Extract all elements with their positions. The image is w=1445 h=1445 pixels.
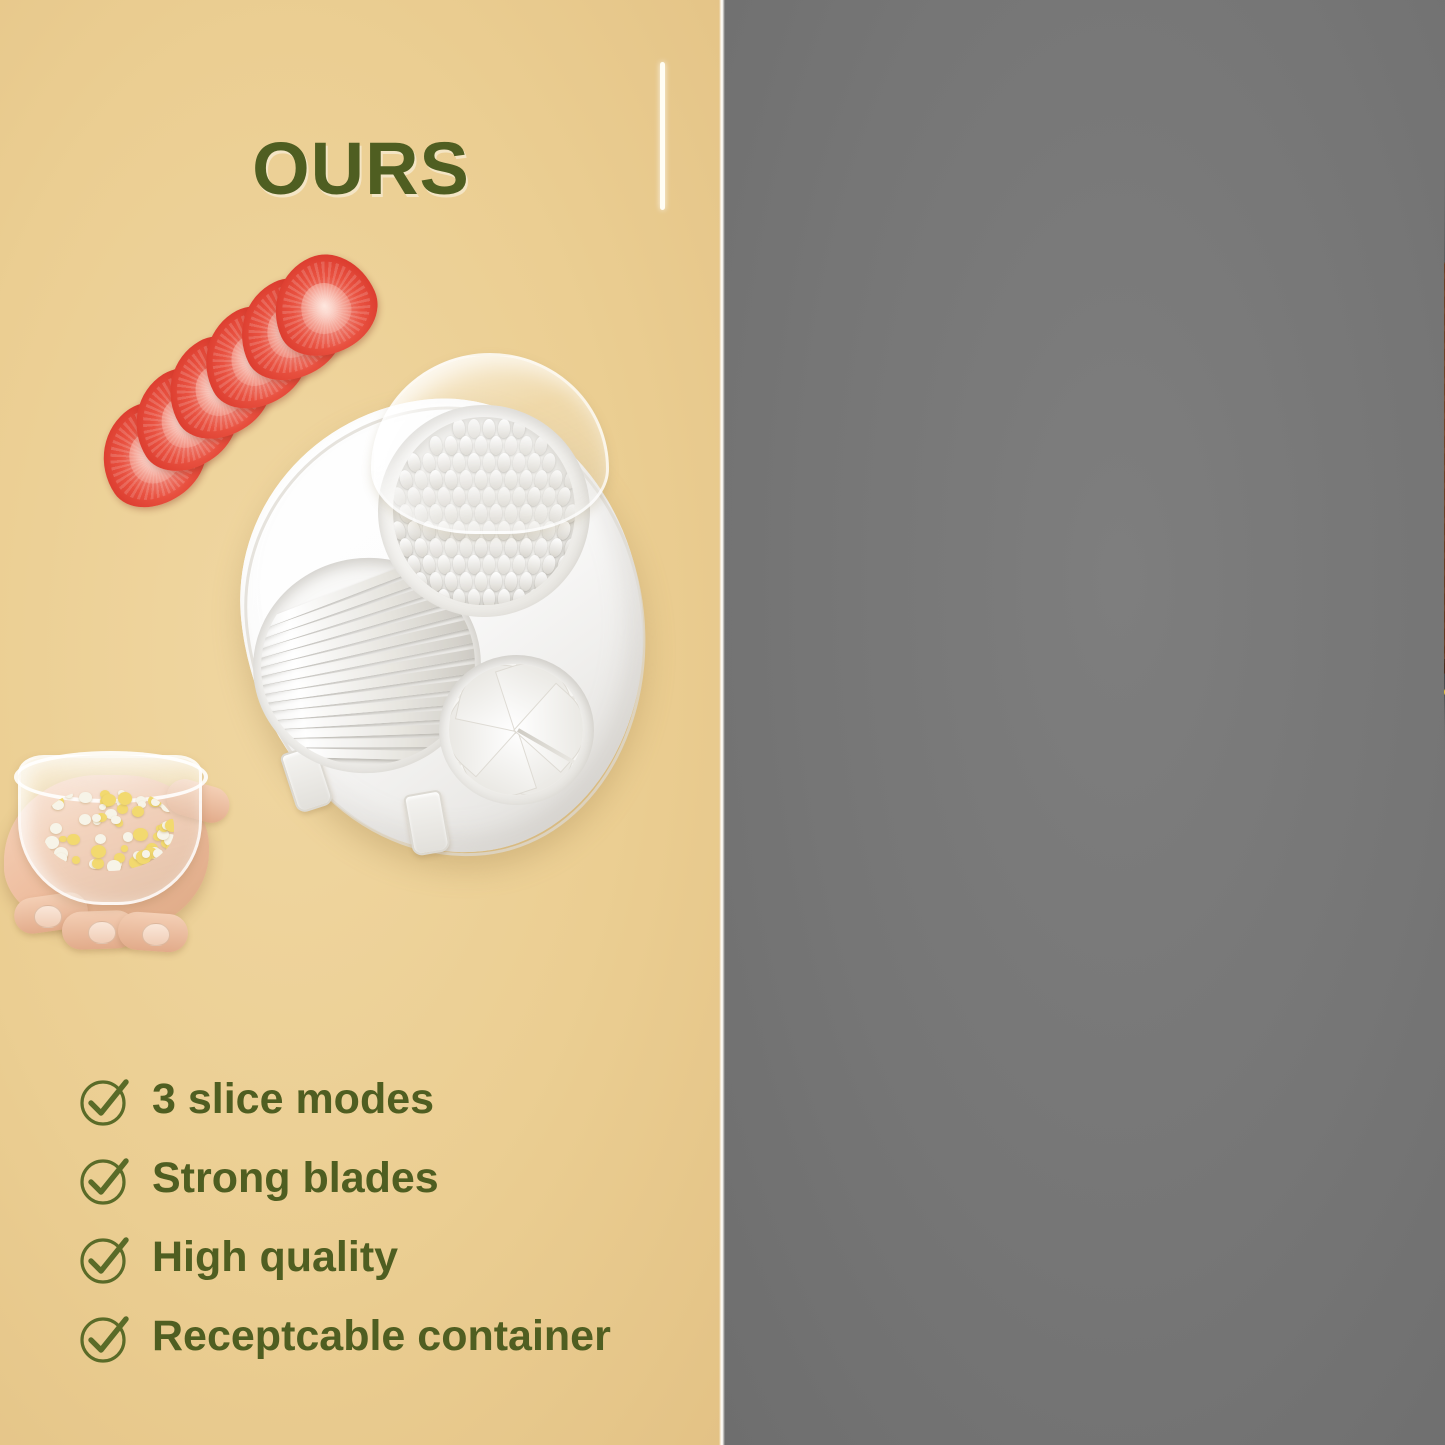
ours-accent-bar — [660, 62, 665, 210]
feature-label: Receptcable container — [152, 1315, 611, 1358]
feature-label: High quality — [152, 1236, 398, 1279]
fingernail — [142, 923, 170, 946]
clear-dome-cover — [371, 353, 609, 534]
feature-label: Strong blades — [152, 1157, 439, 1200]
diced-egg-contents — [42, 789, 174, 871]
check-circle-icon — [78, 1152, 132, 1206]
hand-holding-catch-container — [0, 745, 238, 960]
ours-panel: OURS 3 slice modes S — [0, 0, 722, 1445]
fingernail — [34, 905, 62, 928]
feature-row: Receptcable container — [78, 1297, 698, 1376]
others-panel: OTHERS Risk of Injury — [722, 0, 1445, 1445]
ours-title: OURS — [0, 126, 722, 211]
wedge-cutter — [449, 664, 583, 795]
panel-divider — [719, 0, 725, 1445]
feature-label: 3 slice modes — [152, 1078, 434, 1121]
comparison-infographic: OURS 3 slice modes S — [0, 0, 1445, 1445]
feature-row: 3 slice modes — [78, 1060, 698, 1139]
check-circle-icon — [78, 1231, 132, 1285]
feature-row: High quality — [78, 1218, 698, 1297]
multi-function-egg-slicer — [243, 355, 658, 880]
check-circle-icon — [78, 1073, 132, 1127]
ours-feature-list: 3 slice modes Strong blades — [78, 1060, 698, 1376]
ours-product-photo — [0, 250, 722, 970]
fingernail — [88, 921, 116, 944]
check-circle-icon — [78, 1310, 132, 1364]
feature-row: Strong blades — [78, 1139, 698, 1218]
